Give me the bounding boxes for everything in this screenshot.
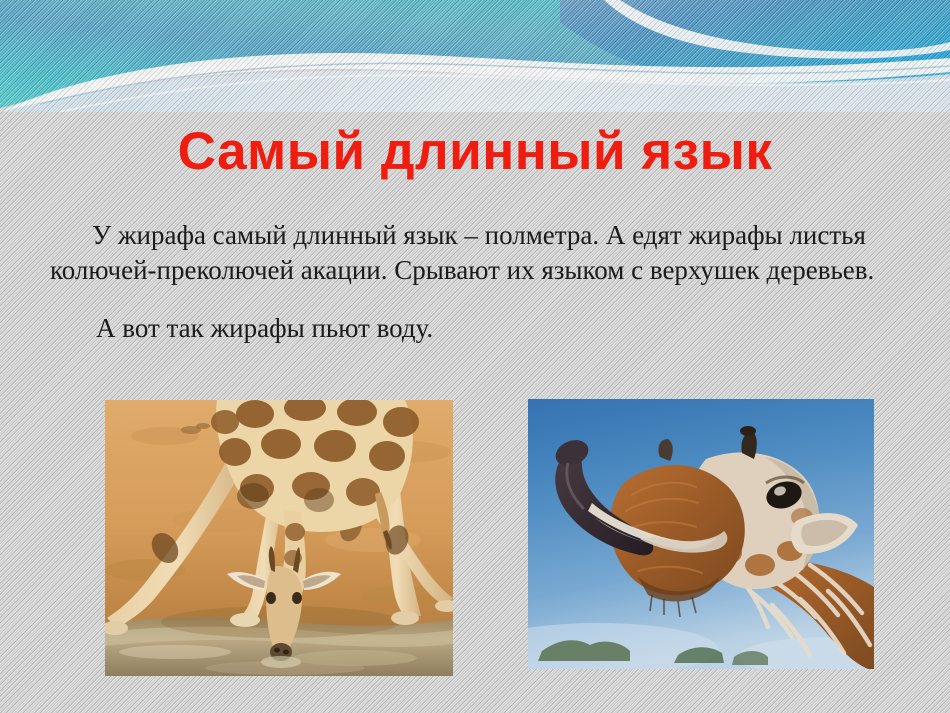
slide-title: Самый длинный язык xyxy=(0,124,950,180)
giraffe-tongue-blue-sky-photo xyxy=(528,399,874,669)
giraffe-drinking-water-photo xyxy=(105,400,453,676)
body-paragraph-2: А вот так жирафы пьют воду. xyxy=(50,311,910,346)
header-wave-decoration xyxy=(0,0,950,112)
body-paragraph-1: У жирафа самый длинный язык – полметра. … xyxy=(50,218,910,287)
slide-body: У жирафа самый длинный язык – полметра. … xyxy=(50,218,910,346)
slide-canvas: Самый длинный язык У жирафа самый длинны… xyxy=(0,0,950,713)
